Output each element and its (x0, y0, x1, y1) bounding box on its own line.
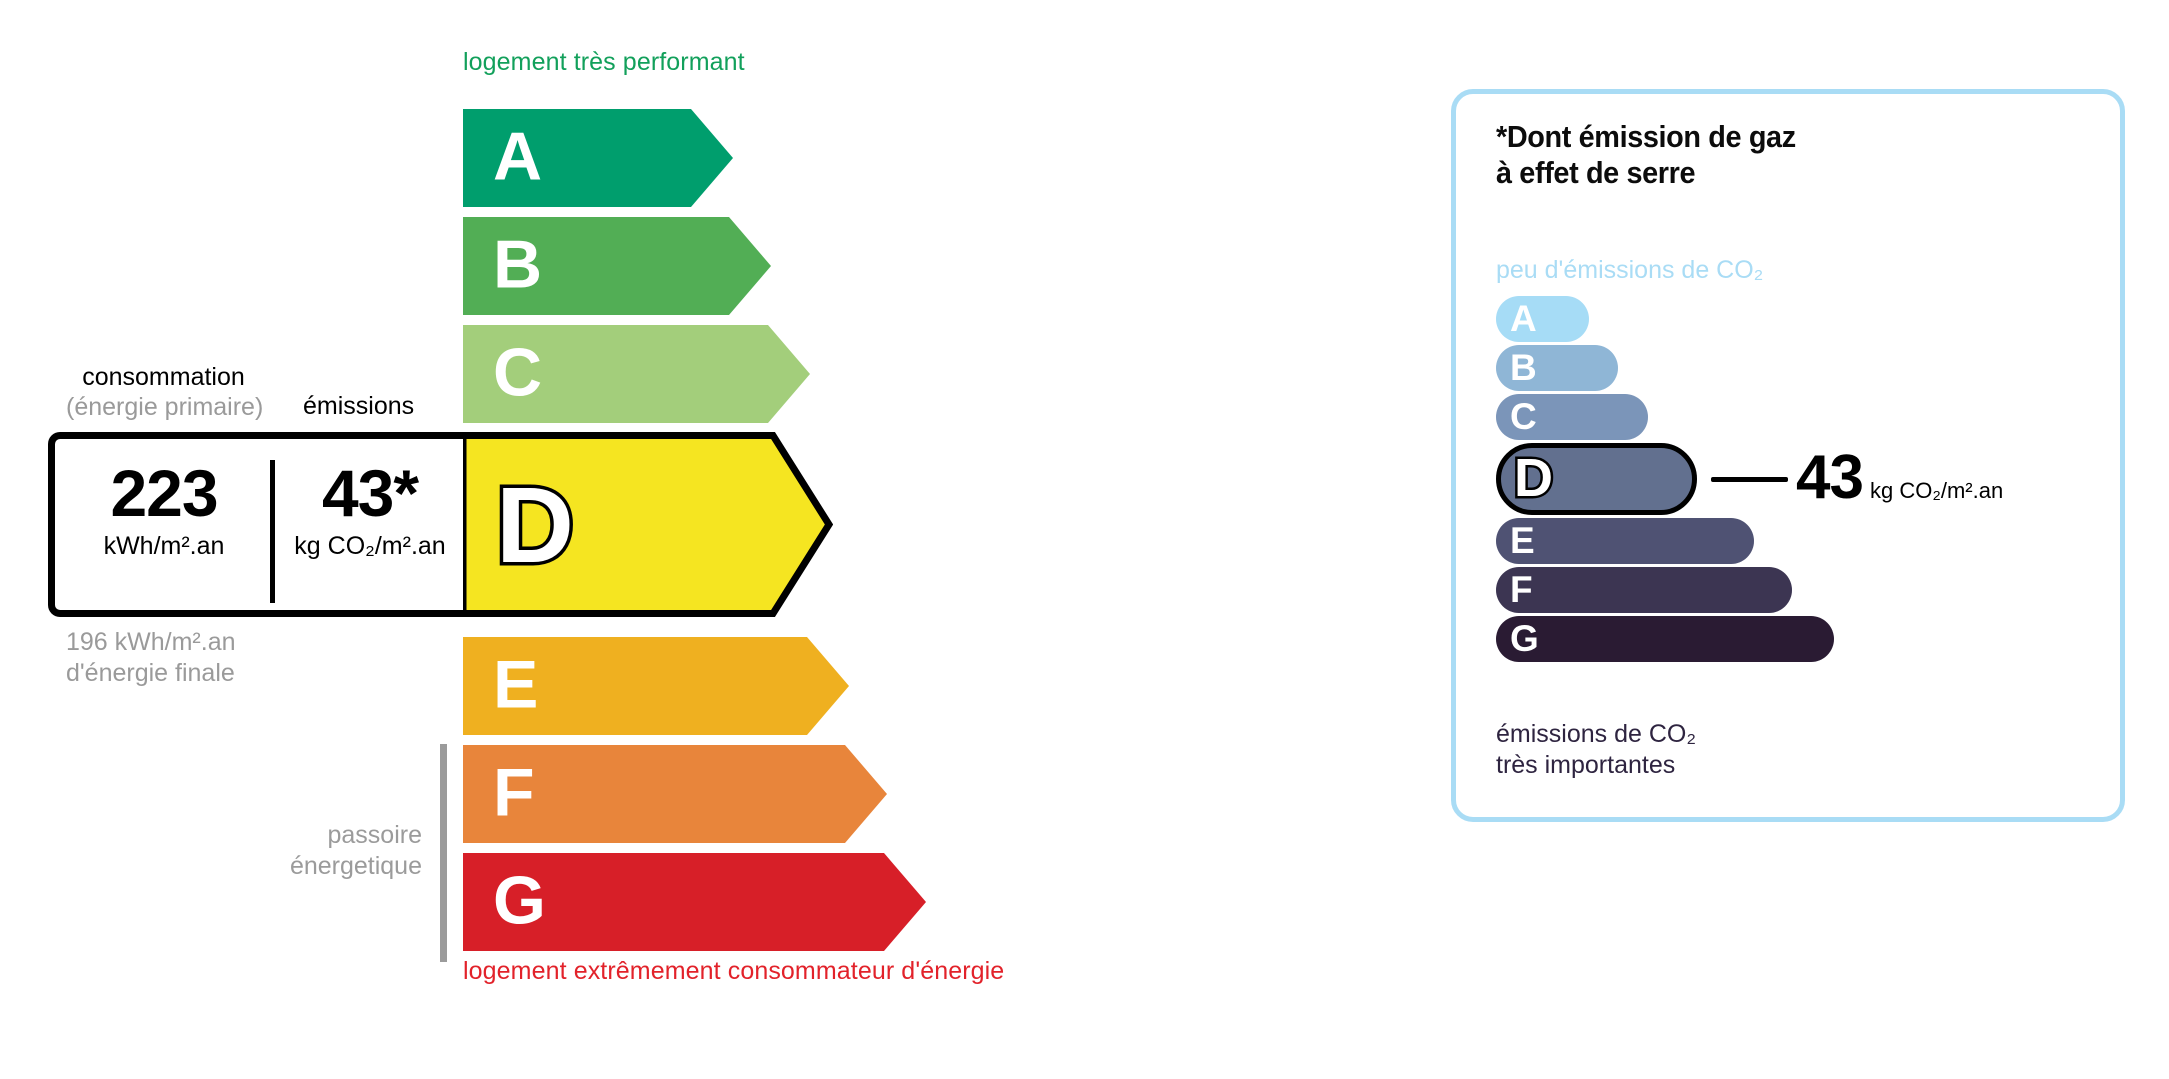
co2-class-letter-e: E (1510, 522, 1535, 559)
energy-arrow-a: A (463, 109, 733, 207)
energy-class-letter-g: G (493, 867, 546, 935)
passoire-label: passoireénergetique (200, 820, 422, 883)
consumption-header-line1: consommation (66, 363, 261, 393)
co2-class-row-d-highlighted: D (1496, 443, 1697, 515)
emissions-unit: kg CO₂/m².an (277, 533, 463, 561)
energy-value-box: 223 kWh/m².an 43* kg CO₂/m².an (48, 432, 463, 617)
energy-class-row-a: A (463, 109, 733, 207)
co2-bottom-caption: émissions de CO₂très importantes (1496, 719, 1696, 782)
energy-performance-chart: logement très performant A B C consommat… (0, 0, 1330, 1079)
co2-bar-g (1496, 616, 1834, 662)
energy-class-row-e: E (463, 637, 849, 735)
passoire-marker-bar (440, 744, 447, 962)
consumption-value-cell: 223 kWh/m².an (59, 457, 269, 560)
co2-class-row-e: E (1496, 518, 1754, 564)
energy-arrow-d-highlighted: D (463, 432, 833, 617)
co2-bar-f (1496, 567, 1792, 613)
emissions-header: émissions (303, 392, 414, 422)
co2-class-row-f: F (1496, 567, 1792, 613)
energy-class-row-g: G (463, 853, 926, 951)
energy-top-caption: logement très performant (463, 48, 745, 77)
co2-class-letter-g: G (1510, 620, 1539, 657)
co2-class-row-c: C (1496, 394, 1648, 440)
emissions-value: 43* (277, 457, 463, 531)
energy-class-letter-f: F (493, 759, 535, 827)
consumption-header-line2: (énergie primaire) (66, 393, 261, 423)
energy-arrow-b: B (463, 217, 771, 315)
co2-class-row-g: G (1496, 616, 1834, 662)
co2-class-row-b: B (1496, 345, 1618, 391)
co2-value-leader-line (1711, 477, 1788, 482)
energy-arrow-f: F (463, 745, 887, 843)
energy-class-letter-c: C (493, 339, 542, 407)
energy-bottom-caption: logement extrêmement consommateur d'éner… (463, 957, 1004, 986)
emissions-value-cell: 43* kg CO₂/m².an (277, 457, 463, 560)
energy-class-row-f: F (463, 745, 887, 843)
co2-bar-e (1496, 518, 1754, 564)
energy-arrow-e: E (463, 637, 849, 735)
consumption-header: consommation (énergie primaire) (66, 363, 261, 422)
co2-value-annotation: 43kg CO₂/m².an (1796, 442, 2003, 513)
co2-value-number: 43 (1796, 443, 1863, 512)
co2-emissions-panel: *Dont émission de gazà effet de serre pe… (1451, 89, 2125, 822)
co2-class-row-a: A (1496, 296, 1589, 342)
energy-class-letter-e: E (493, 651, 538, 719)
energy-class-letter-d: D (496, 471, 574, 579)
co2-class-letter-a: A (1510, 300, 1537, 337)
energy-class-row-c: C (463, 325, 810, 423)
co2-class-letter-d: D (1514, 451, 1553, 505)
co2-class-letter-f: F (1510, 571, 1533, 608)
consumption-value: 223 (59, 457, 269, 531)
consumption-unit: kWh/m².an (59, 533, 269, 561)
energy-arrow-g: G (463, 853, 926, 951)
co2-value-unit: kg CO₂/m².an (1870, 478, 2003, 503)
value-box-divider (270, 460, 275, 603)
co2-class-letter-c: C (1510, 398, 1537, 435)
energy-class-row-b: B (463, 217, 771, 315)
energy-class-letter-b: B (493, 231, 542, 299)
co2-class-letter-b: B (1510, 349, 1537, 386)
co2-panel-title: *Dont émission de gazà effet de serre (1496, 119, 1796, 192)
final-energy-note: 196 kWh/m².and'énergie finale (66, 627, 236, 690)
energy-class-letter-a: A (493, 123, 542, 191)
co2-top-caption: peu d'émissions de CO₂ (1496, 256, 1763, 285)
energy-arrow-c: C (463, 325, 810, 423)
